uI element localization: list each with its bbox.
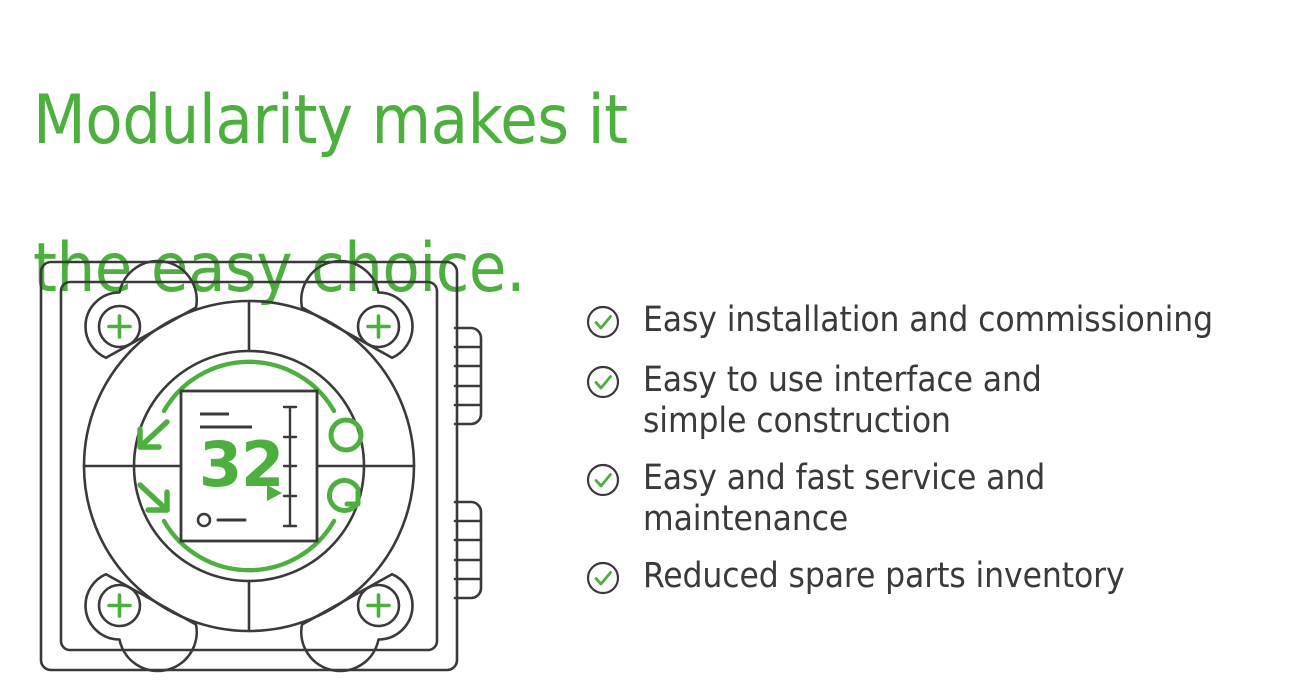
benefits-list: Easy installation and commissioning Easy…: [586, 300, 1286, 600]
mounting-tab-top-left: [85, 261, 196, 358]
mounting-tab-top-right: [301, 261, 412, 358]
terminal-block-lower: [455, 502, 481, 598]
slide-canvas: Modularity makes it the easy choice.: [0, 0, 1290, 698]
list-item-label: Reduced spare parts inventory: [643, 556, 1286, 597]
check-circle-icon: [586, 561, 620, 595]
label-o-glyph: [331, 420, 361, 450]
list-item-label: Easy installation and commissioning: [643, 300, 1286, 341]
label-g-glyph: [329, 480, 358, 510]
list-item: Easy to use interface and simple constru…: [586, 360, 1286, 442]
device-illustration: 32: [24, 248, 524, 688]
terminal-block-upper: [455, 328, 481, 424]
arrow-down-right-icon: [140, 485, 167, 510]
list-item: Easy and fast service and maintenance: [586, 458, 1286, 540]
mounting-tab-bottom-right: [301, 574, 412, 671]
list-item: Easy installation and commissioning: [586, 300, 1286, 344]
mounting-tab-bottom-left: [85, 574, 196, 671]
check-circle-icon: [586, 305, 620, 339]
list-item-label: Easy to use interface and simple constru…: [643, 360, 1286, 442]
list-item: Reduced spare parts inventory: [586, 556, 1286, 600]
check-circle-icon: [586, 463, 620, 497]
arrow-up-left-icon: [140, 422, 167, 447]
list-item-label: Easy and fast service and maintenance: [643, 458, 1286, 540]
device-diagram: 32: [24, 248, 524, 688]
check-circle-icon: [586, 365, 620, 399]
page-title-line-1: Modularity makes it: [33, 84, 793, 158]
